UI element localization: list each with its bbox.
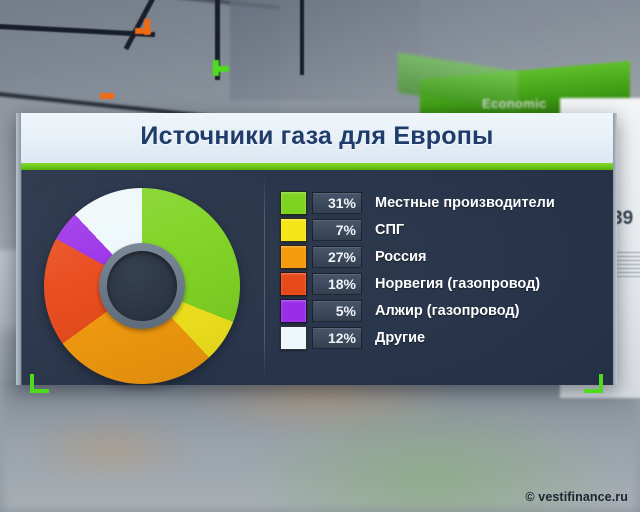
legend-item-label: СПГ: [375, 222, 404, 238]
legend-item: 5%Алжир (газопровод): [280, 298, 610, 324]
legend-color-swatch: [280, 218, 307, 242]
legend-percent-box: 12%: [312, 327, 362, 349]
donut-hole-ring: [99, 243, 185, 329]
legend-color-swatch: [280, 299, 307, 323]
legend-item-label: Другие: [375, 330, 425, 346]
corner-marker-bottom-right: [584, 374, 603, 393]
legend-percent-box: 18%: [312, 273, 362, 295]
legend-item-label: Алжир (газопровод): [375, 303, 519, 319]
legend-percent-value: 18%: [328, 276, 356, 292]
page-title: Источники газа для Европы: [21, 122, 613, 151]
legend-item: 18%Норвегия (газопровод): [280, 271, 610, 297]
background-accent-orange-3: [100, 93, 114, 99]
chart-legend: 31%Местные производители7%СПГ27%Россия18…: [280, 190, 610, 352]
legend-color-swatch: [280, 191, 307, 215]
screenshot-stage: Economic 39 2011 Источники газа для Евро…: [0, 0, 640, 512]
header-accent-rule: [21, 163, 613, 170]
panel-header: Источники газа для Европы: [21, 113, 613, 163]
donut-hole-core: [107, 251, 178, 322]
legend-item: 7%СПГ: [280, 217, 610, 243]
legend-percent-value: 12%: [328, 330, 356, 346]
legend-color-swatch: [280, 272, 307, 296]
legend-percent-box: 5%: [312, 300, 362, 322]
legend-color-swatch: [280, 326, 307, 350]
legend-percent-value: 31%: [328, 195, 356, 211]
panel-edge-right: [613, 113, 617, 385]
infographic-panel: Источники газа для Европы 31%Местные про…: [16, 113, 617, 385]
background-beam-4: [300, 0, 304, 75]
donut-chart: [44, 188, 240, 384]
legend-percent-box: 31%: [312, 192, 362, 214]
legend-item-label: Россия: [375, 249, 426, 265]
legend-item-label: Местные производители: [375, 195, 555, 211]
legend-item-label: Норвегия (газопровод): [375, 276, 540, 292]
legend-item: 31%Местные производители: [280, 190, 610, 216]
legend-percent-box: 7%: [312, 219, 362, 241]
legend-percent-value: 7%: [336, 222, 356, 238]
corner-marker-bottom-left: [30, 374, 49, 393]
legend-item: 12%Другие: [280, 325, 610, 351]
panel-body: 31%Местные производители7%СПГ27%Россия18…: [21, 170, 613, 385]
legend-percent-value: 5%: [336, 303, 356, 319]
legend-color-swatch: [280, 245, 307, 269]
chart-legend-divider: [264, 176, 265, 379]
background-studio-label: Economic: [482, 96, 547, 111]
background-accent-green-2: [213, 60, 219, 76]
watermark: © vestifinance.ru: [525, 490, 628, 504]
legend-percent-box: 27%: [312, 246, 362, 268]
background-accent-orange-2: [144, 19, 150, 35]
legend-percent-value: 27%: [328, 249, 356, 265]
legend-item: 27%Россия: [280, 244, 610, 270]
